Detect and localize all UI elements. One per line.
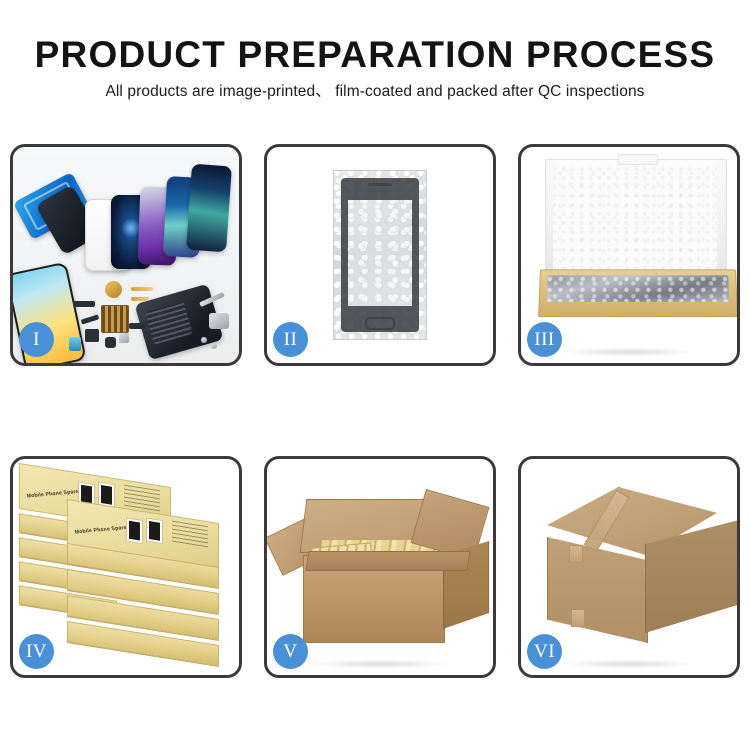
- process-step-grid: I II III: [0, 0, 750, 750]
- step-badge-4: IV: [19, 634, 54, 669]
- spare-part-ribbon: [129, 323, 145, 329]
- home-button: [365, 317, 395, 330]
- box-label-spec-lines: [172, 521, 208, 549]
- spare-part-module: [105, 337, 116, 348]
- spare-part-battery: [69, 337, 81, 351]
- carton-flap-front: [305, 551, 470, 571]
- drop-shadow: [560, 347, 698, 357]
- spare-part-button: [81, 314, 100, 324]
- process-step-3: III: [518, 144, 740, 366]
- step-badge-5: V: [273, 634, 308, 669]
- step-badge-6: VI: [527, 634, 562, 669]
- spare-part-bracket: [119, 333, 129, 343]
- infographic-page: PRODUCT PREPARATION PROCESS All products…: [0, 0, 750, 750]
- kraft-box-base: [538, 269, 737, 317]
- bubble-film-wrap: [333, 170, 427, 340]
- spare-part-screw: [201, 337, 207, 343]
- spare-part-tool-head: [209, 313, 229, 329]
- sealing-tape-front-upper: [569, 545, 583, 563]
- screen-glass: [341, 178, 419, 332]
- process-step-1: I: [10, 144, 242, 366]
- step-badge-1: I: [19, 322, 54, 357]
- striped-display-phone: [186, 164, 232, 253]
- spare-part-connector: [73, 301, 95, 307]
- process-step-2: II: [264, 144, 496, 366]
- box-label-screen-image: [126, 517, 143, 544]
- process-step-5: V: [264, 456, 496, 678]
- foam-lining: [553, 167, 717, 272]
- drop-shadow: [308, 659, 453, 669]
- spare-part-flex-cable: [131, 287, 153, 291]
- spare-part-speaker: [105, 281, 122, 298]
- spare-part-chip: [101, 305, 129, 333]
- step-badge-2: II: [273, 322, 308, 357]
- spare-part-flex-cable: [131, 297, 149, 301]
- box-label-screen-image: [146, 517, 163, 544]
- process-step-4: Mobile Phone Spare Parts Mobile Phone Sp…: [10, 456, 242, 678]
- spare-part-camera: [85, 329, 99, 342]
- earpiece-slot: [368, 183, 392, 186]
- carton-front-face: [547, 537, 648, 643]
- drop-shadow: [560, 659, 698, 669]
- process-step-6: VI: [518, 456, 740, 678]
- step-badge-3: III: [527, 322, 562, 357]
- sealing-tape-front-lower: [571, 609, 585, 627]
- spare-part-screw: [211, 343, 217, 349]
